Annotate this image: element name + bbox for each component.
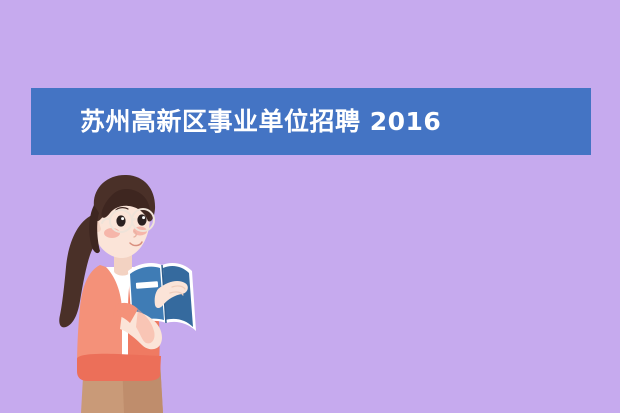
woman-reading-book-icon bbox=[30, 163, 220, 413]
title-banner: 苏州高新区事业单位招聘 2016 bbox=[31, 88, 591, 155]
woman-reading-book-illustration bbox=[30, 163, 220, 413]
page-title: 苏州高新区事业单位招聘 2016 bbox=[80, 109, 441, 134]
banner-graphic: 苏州高新区事业单位招聘 2016 bbox=[0, 0, 620, 413]
